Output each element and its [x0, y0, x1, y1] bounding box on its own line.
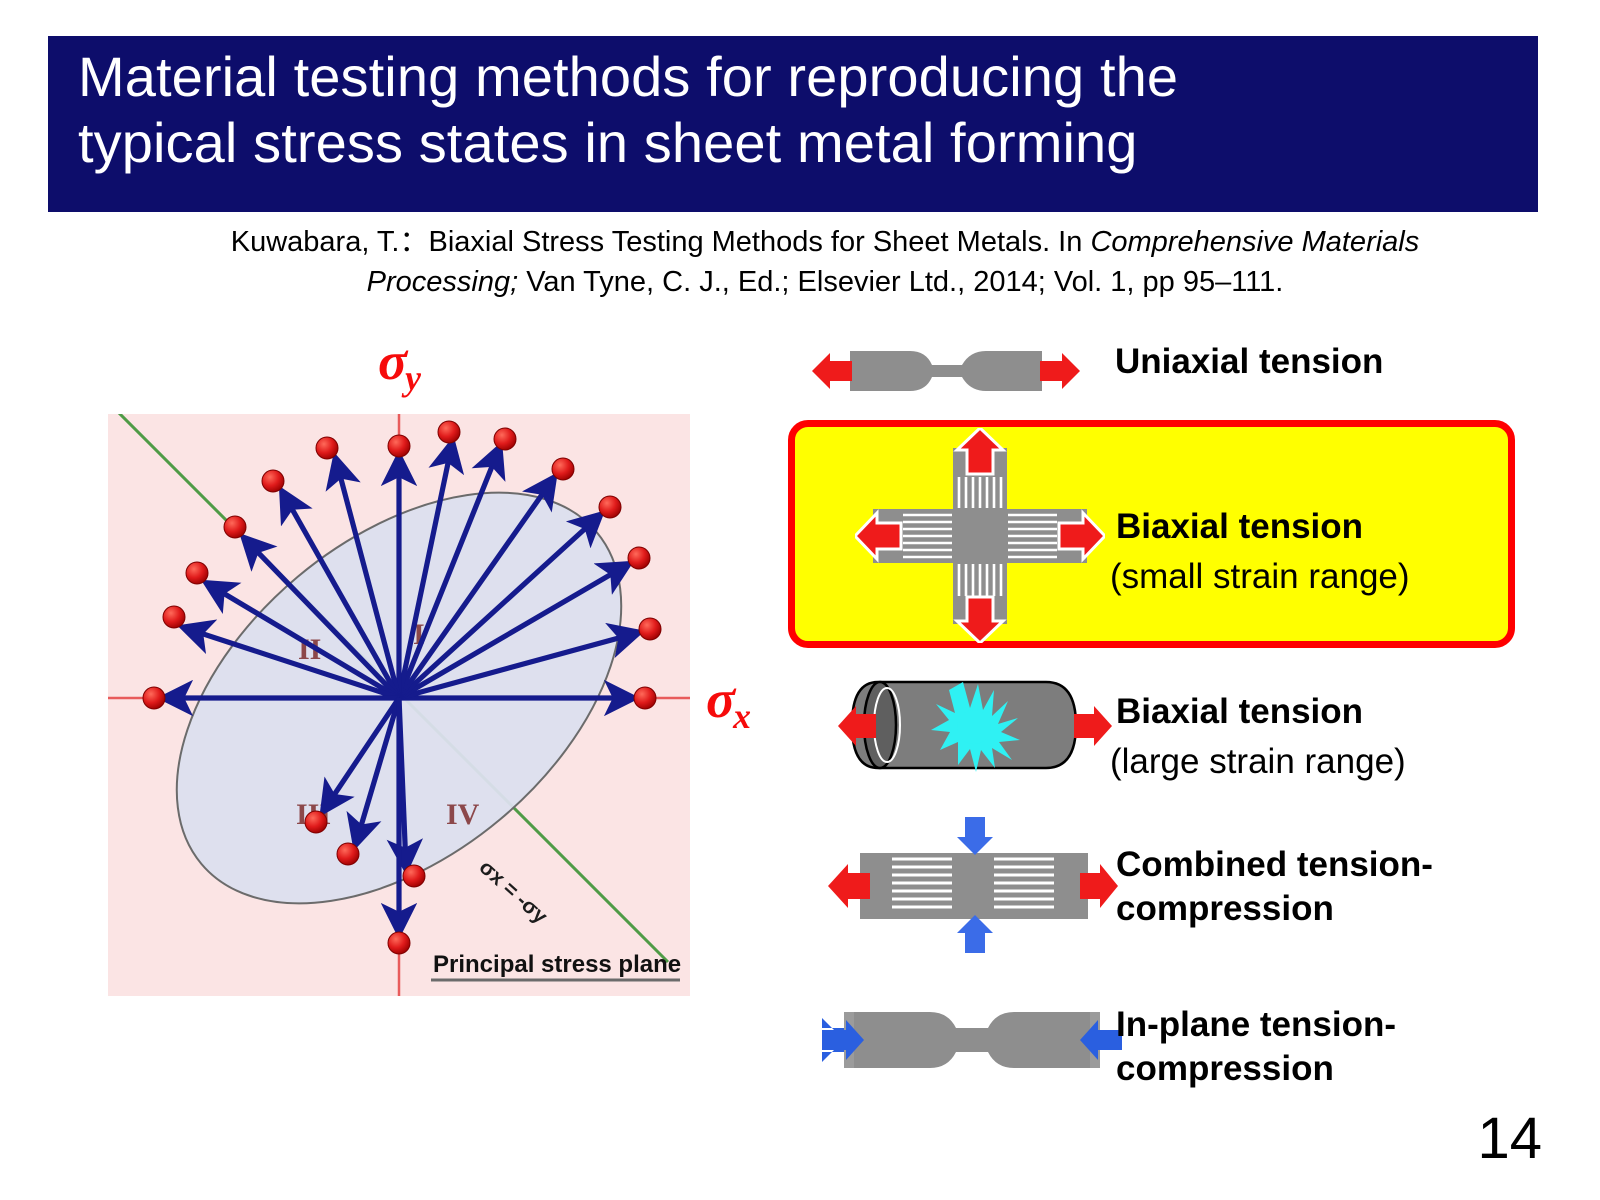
- arrow-right-icon: [1040, 353, 1080, 389]
- method-row-uniaxial-tension: [810, 335, 1150, 405]
- quadrant-label-IV: IV: [446, 798, 480, 831]
- citation-author: Kuwabara, T.: [231, 226, 400, 258]
- sigma-y-axis-label: σy: [378, 330, 421, 399]
- citation-reference: Kuwabara, T.：Biaxial Stress Testing Meth…: [160, 222, 1490, 302]
- page-title: Material testing methods for reproducing…: [78, 44, 1538, 176]
- method-label-combined-tension-compression: Combined tension- compression: [1116, 843, 1433, 931]
- svg-text:Principal stress plane: Principal stress plane: [433, 951, 681, 978]
- tube-specimen-icon: [838, 670, 1118, 780]
- principal-stress-plane-chart: I II III IV: [108, 414, 690, 996]
- method-label-biaxial-small-strain: Biaxial tension: [1116, 505, 1363, 549]
- arrow-down-icon: [957, 817, 993, 855]
- arrow-up-icon: [957, 915, 993, 953]
- citation-title: Biaxial Stress Testing Methods for Sheet…: [428, 226, 1090, 258]
- method-row-combined-tension-compression: [822, 815, 1122, 955]
- method-row-in-plane-tension-compression: [822, 1000, 1122, 1080]
- method-label-in-plane-tension-compression: In-plane tension- compression: [1116, 1003, 1396, 1091]
- sigma-x-axis-label: σx: [706, 668, 751, 737]
- slotted-plate-specimen-icon: [822, 815, 1122, 955]
- method-sublabel-biaxial-small-strain: (small strain range): [1110, 555, 1410, 599]
- dogbone-specimen-icon: [810, 335, 1080, 405]
- method-row-biaxial-large-strain: [838, 670, 1118, 780]
- method-sublabel-biaxial-large-strain: (large strain range): [1110, 740, 1406, 784]
- method-label-biaxial-large-strain: Biaxial tension: [1116, 690, 1363, 734]
- method-row-biaxial-small-strain: [855, 428, 1105, 643]
- citation-publication: Van Tyne, C. J., Ed.; Elsevier Ltd., 201…: [518, 266, 1283, 298]
- cruciform-specimen-icon: [855, 428, 1105, 643]
- chart-caption: Principal stress plane: [431, 951, 681, 980]
- page-number: 14: [1477, 1105, 1542, 1172]
- dogbone-compression-specimen-icon: [822, 1000, 1122, 1080]
- method-label-uniaxial-tension: Uniaxial tension: [1115, 340, 1383, 384]
- slide-title-bar: Material testing methods for reproducing…: [48, 36, 1538, 212]
- arrow-left-icon: [812, 353, 852, 389]
- citation-separator: ：: [399, 226, 428, 258]
- arrow-right-icon: [1074, 706, 1112, 746]
